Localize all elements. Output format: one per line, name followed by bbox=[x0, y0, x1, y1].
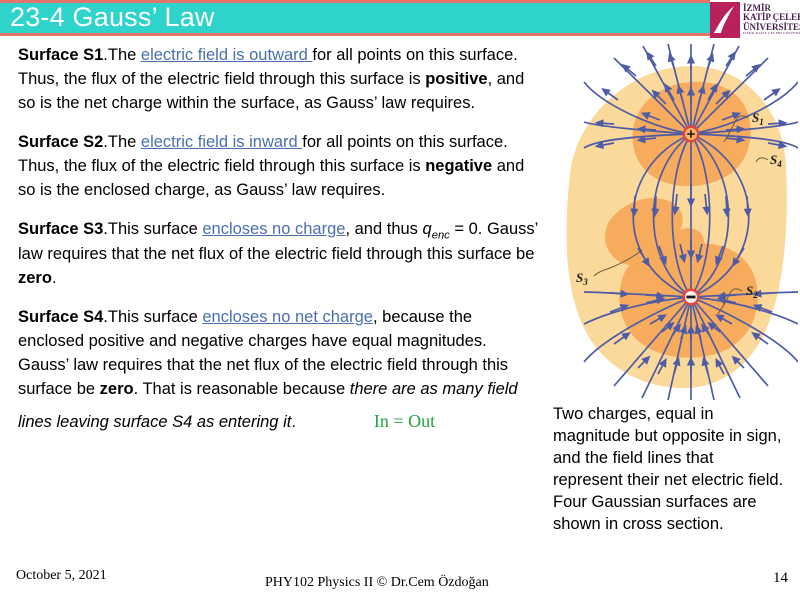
s3-rest-a: , and thus bbox=[345, 220, 422, 238]
s4-lead: Surface S4 bbox=[18, 308, 103, 326]
s3-rest-b: . bbox=[52, 269, 57, 287]
s4-after-lead: .This surface bbox=[103, 308, 202, 326]
positive-charge bbox=[683, 126, 700, 143]
figure-caption: Two charges, equal in magnitude but oppo… bbox=[553, 404, 785, 536]
footer-date: October 5, 2021 bbox=[16, 568, 107, 584]
s1-bold-positive: positive bbox=[425, 70, 487, 88]
s3-formula-sub: enc bbox=[432, 229, 450, 241]
s3-bold-zero: zero bbox=[18, 269, 52, 287]
in-equals-out-annotation: In = Out bbox=[374, 408, 435, 434]
s3-formula-var: q bbox=[423, 220, 432, 238]
s1-lead: Surface S1 bbox=[18, 46, 103, 64]
slide: 23-4 Gauss’ Law İZMİR KATİP ÇELEBİ ÜNİVE… bbox=[0, 0, 800, 600]
figure-electric-field-lines: S1 S4 S3 S2 bbox=[536, 44, 798, 400]
slide-body-text: Surface S1.The electric field is outward… bbox=[18, 44, 538, 435]
s2-bold-negative: negative bbox=[425, 157, 492, 175]
paragraph-surface-s1: Surface S1.The electric field is outward… bbox=[18, 44, 538, 116]
s4-bold-zero: zero bbox=[100, 380, 134, 398]
university-logo: İZMİR KATİP ÇELEBİ ÜNİVERSİTESİ IZMIR KA… bbox=[710, 0, 800, 40]
logo-tulip-icon bbox=[710, 2, 740, 38]
s3-after-lead: .This surface bbox=[103, 220, 202, 238]
footer-course-label: PHY102 Physics II © Dr.Cem Özdoğan bbox=[265, 575, 489, 591]
logo-line-4: IZMIR KATIP CELEBI UNIVERSITY bbox=[743, 32, 800, 36]
footer-page-number: 14 bbox=[773, 570, 788, 587]
s3-formula-qenc: qenc bbox=[423, 220, 450, 238]
paragraph-surface-s4: Surface S4.This surface encloses no net … bbox=[18, 306, 538, 435]
logo-wordmark: İZMİR KATİP ÇELEBİ ÜNİVERSİTESİ IZMIR KA… bbox=[743, 4, 800, 36]
paragraph-surface-s2: Surface S2.The electric field is inward … bbox=[18, 131, 538, 203]
paragraph-surface-s3: Surface S3.This surface encloses no char… bbox=[18, 218, 538, 291]
s3-lead: Surface S3 bbox=[18, 220, 103, 238]
negative-charge bbox=[683, 289, 700, 306]
s2-lead: Surface S2 bbox=[18, 133, 103, 151]
s4-rest-c: . bbox=[291, 413, 296, 431]
s2-link[interactable]: electric field is inward bbox=[141, 133, 302, 151]
s4-rest-b: . That is reasonable because bbox=[134, 380, 350, 398]
s2-after-lead: .The bbox=[103, 133, 141, 151]
s1-link[interactable]: electric field is outward bbox=[141, 46, 313, 64]
s3-link[interactable]: encloses no charge bbox=[202, 220, 345, 238]
page-title: 23-4 Gauss’ Law bbox=[10, 2, 215, 33]
s1-after-lead: .The bbox=[103, 46, 141, 64]
s4-link[interactable]: encloses no net charge bbox=[202, 308, 373, 326]
